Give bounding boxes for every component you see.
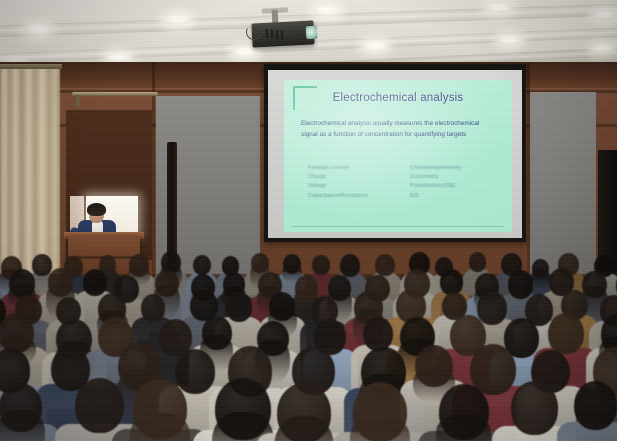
audience-member-long-hair	[531, 269, 550, 287]
audience-member-head	[440, 269, 463, 294]
audience-member-head	[363, 317, 393, 351]
audience-member-head	[226, 292, 252, 322]
audience-member-head	[175, 349, 215, 394]
audience-member-head	[469, 252, 486, 271]
audience-member-head	[574, 381, 617, 430]
audience-member-head	[32, 254, 51, 276]
audience-member-head	[312, 255, 330, 275]
audience-member-head	[477, 291, 507, 325]
audience-member-head	[340, 254, 361, 277]
audience-member-long-hair	[130, 413, 189, 441]
lecture-hall-photo: Electrochemical analysis Electrochemical…	[0, 0, 617, 441]
audience-member-head	[508, 270, 534, 299]
audience-member-head	[375, 254, 394, 276]
audience-member-head	[141, 294, 165, 321]
audience	[0, 0, 617, 441]
audience-member-long-hair	[436, 415, 491, 441]
audience-member-head	[511, 381, 558, 434]
audience-member-long-hair	[0, 410, 45, 441]
audience-member-head	[83, 269, 107, 296]
audience-member-head	[548, 313, 584, 354]
audience-member-head	[470, 344, 516, 395]
audience-member-head	[75, 378, 124, 433]
